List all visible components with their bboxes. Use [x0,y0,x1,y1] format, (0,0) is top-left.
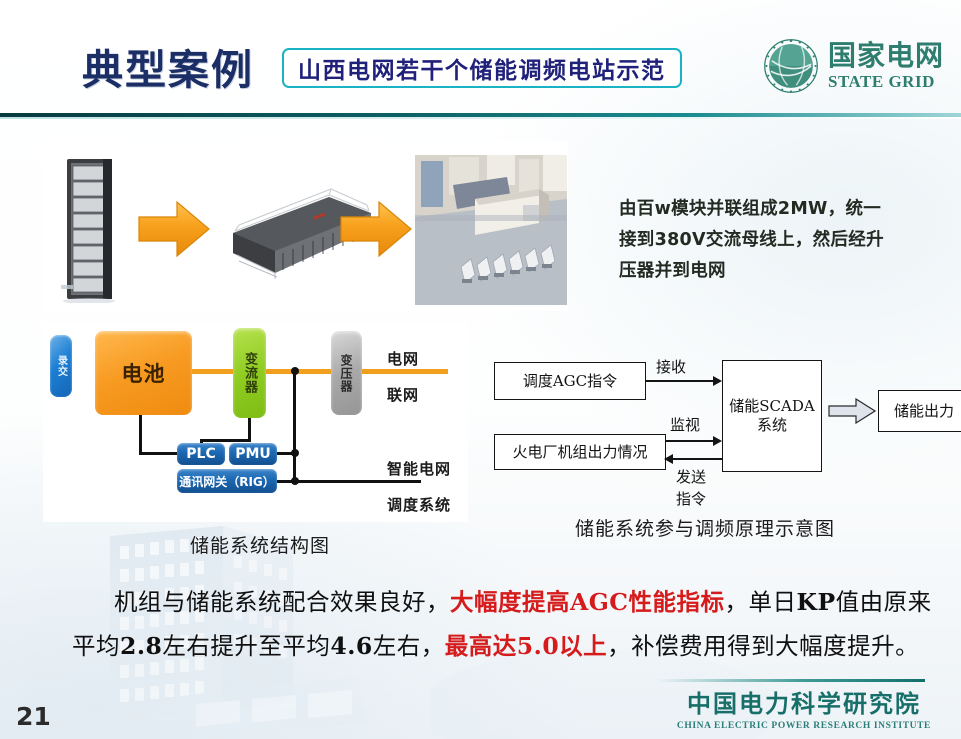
top-note-line-1: 由百w模块并联组成2MW，统一 [619,194,949,225]
wire-battery-plc [139,452,179,455]
scada-arrow-monitor-line [666,440,714,442]
wire-converter-plc [200,439,251,442]
scada-box-storage-output-label: 储能出力 [894,402,954,421]
ac-bus-line [183,369,448,374]
cepri-logo: 中国电力科学研究院 CHINA ELECTRIC POWER RESEARCH … [677,684,931,731]
summary-bold-46: 4.6 [330,632,372,660]
footer-divider [657,679,925,682]
state-grid-name-en: STATE GRID [828,73,944,90]
state-grid-globe-icon [763,38,819,94]
frequency-regulation-principle-diagram: 调度AGC指令 火电厂机组出力情况 储能SCADA 系统 储能出力 接收 监视 … [480,348,930,518]
storage-structure-diagram: 录交 电池 变流器 变压器 PLC PMU 通讯网关（RIG） [43,322,468,522]
scada-arrow-receive-line [646,380,714,382]
diagram-block-transformer-label: 变压器 [338,354,355,393]
diagram-block-pmu: PMU [229,443,277,465]
diagram-block-battery: 电池 [95,331,192,415]
scada-arrow-monitor-head [713,436,722,446]
cepri-name-cn: 中国电力科学研究院 [677,684,931,719]
state-grid-name-cn: 国家电网 [828,42,944,70]
scada-box-plant-output-label: 火电厂机组出力情况 [512,443,647,462]
scada-box-system-label-2: 系统 [757,416,787,435]
diagram-block-battery-label: 电池 [122,358,166,388]
slide-header: 典型案例 山西电网若干个储能调频电站示范 [0,0,961,118]
page-title: 典型案例 [82,36,254,96]
top-note-text: 由百w模块并联组成2MW，统一 接到380V交流母线上，然后经升 压器并到电网 [619,194,949,287]
bus-junction-dot-bottom [291,477,299,485]
diagram-label-dispatch-sys: 调度系统 [387,494,451,515]
wire-bus-vertical [293,371,296,482]
diagram-block-plc: PLC [177,443,225,465]
scada-label-send-2: 指令 [676,488,706,509]
summary-seg-1: 机组与储能系统配合效果良好， [114,588,450,616]
scada-arrow-send-line [672,458,722,460]
bus-junction-dot-mid [291,449,299,457]
battery-rack-photo [61,155,117,303]
scada-box-storage-output: 储能出力 [878,390,961,432]
diagram-block-gateway: 通讯网关（RIG） [177,469,277,493]
summary-highlight-1: 大幅度提高AGC性能指标 [450,588,725,616]
scada-block-arrow-icon [828,398,876,424]
scada-box-agc-command-label: 调度AGC指令 [523,372,617,391]
wire-battery-down [139,415,142,454]
summary-bold-kp: KP [797,588,836,616]
diagram-block-plc-label: PLC [186,446,215,462]
diagram-block-converter-label: 变流器 [240,352,259,394]
diagram-block-converter: 变流器 [233,328,266,418]
header-divider-highlight [0,117,961,119]
bus-junction-dot-top [291,367,299,375]
top-note-line-3: 压器并到电网 [619,256,949,287]
wire-smartgrid-out [293,480,421,483]
page-number: 21 [16,702,51,731]
caption-frequency-principle: 储能系统参与调频原理示意图 [575,514,835,541]
top-note-line-2: 接到380V交流母线上，然后经升 [619,225,949,256]
diagram-block-input: 录交 [50,335,72,397]
slide-canvas: 典型案例 山西电网若干个储能调频电站示范 [0,0,961,739]
scada-label-monitor: 监视 [670,414,700,435]
diagram-label-grid-bottom: 联网 [387,384,419,405]
summary-paragraph: 机组与储能系统配合效果良好，大幅度提高AGC性能指标，单日KP值由原来平均2.8… [72,580,944,668]
summary-seg-5: 左右， [373,632,445,660]
scada-box-agc-command: 调度AGC指令 [494,362,646,400]
diagram-label-smart-grid: 智能电网 [387,458,451,479]
right-arrow-icon [339,199,413,259]
scada-label-receive: 接收 [656,356,686,377]
summary-bold-28: 2.8 [120,632,162,660]
scada-label-send-1: 发送 [676,466,706,487]
summary-seg-6: ，补偿费用得到大幅度提升。 [607,632,919,660]
scada-box-system-label-1: 储能SCADA [729,397,814,416]
diagram-block-input-label: 录交 [54,355,69,377]
diagram-block-gateway-label: 通讯网关（RIG） [179,473,275,490]
photo-flow-strip [43,141,568,311]
diagram-block-transformer: 变压器 [331,331,362,415]
diagram-block-pmu-label: PMU [235,446,271,462]
summary-seg-2: ，单日 [725,588,797,616]
caption-storage-structure: 储能系统结构图 [190,531,330,558]
scada-arrow-receive-head [713,376,722,386]
subtitle-label: 山西电网若干个储能调频电站示范 [298,51,666,85]
substation-site-photo [415,155,567,305]
right-arrow-icon [137,199,211,259]
diagram-label-grid-top: 电网 [387,348,419,369]
summary-seg-4: 左右提升至平均 [162,632,330,660]
scada-box-system: 储能SCADA 系统 [722,360,822,472]
subtitle-badge: 山西电网若干个储能调频电站示范 [282,48,682,88]
cepri-name-en: CHINA ELECTRIC POWER RESEARCH INSTITUTE [677,721,931,731]
scada-arrow-send-head [664,454,673,464]
summary-highlight-2: 最高达5.0以上 [445,632,607,660]
scada-box-plant-output: 火电厂机组出力情况 [494,434,666,470]
state-grid-logo: 国家电网 STATE GRID [763,38,944,94]
